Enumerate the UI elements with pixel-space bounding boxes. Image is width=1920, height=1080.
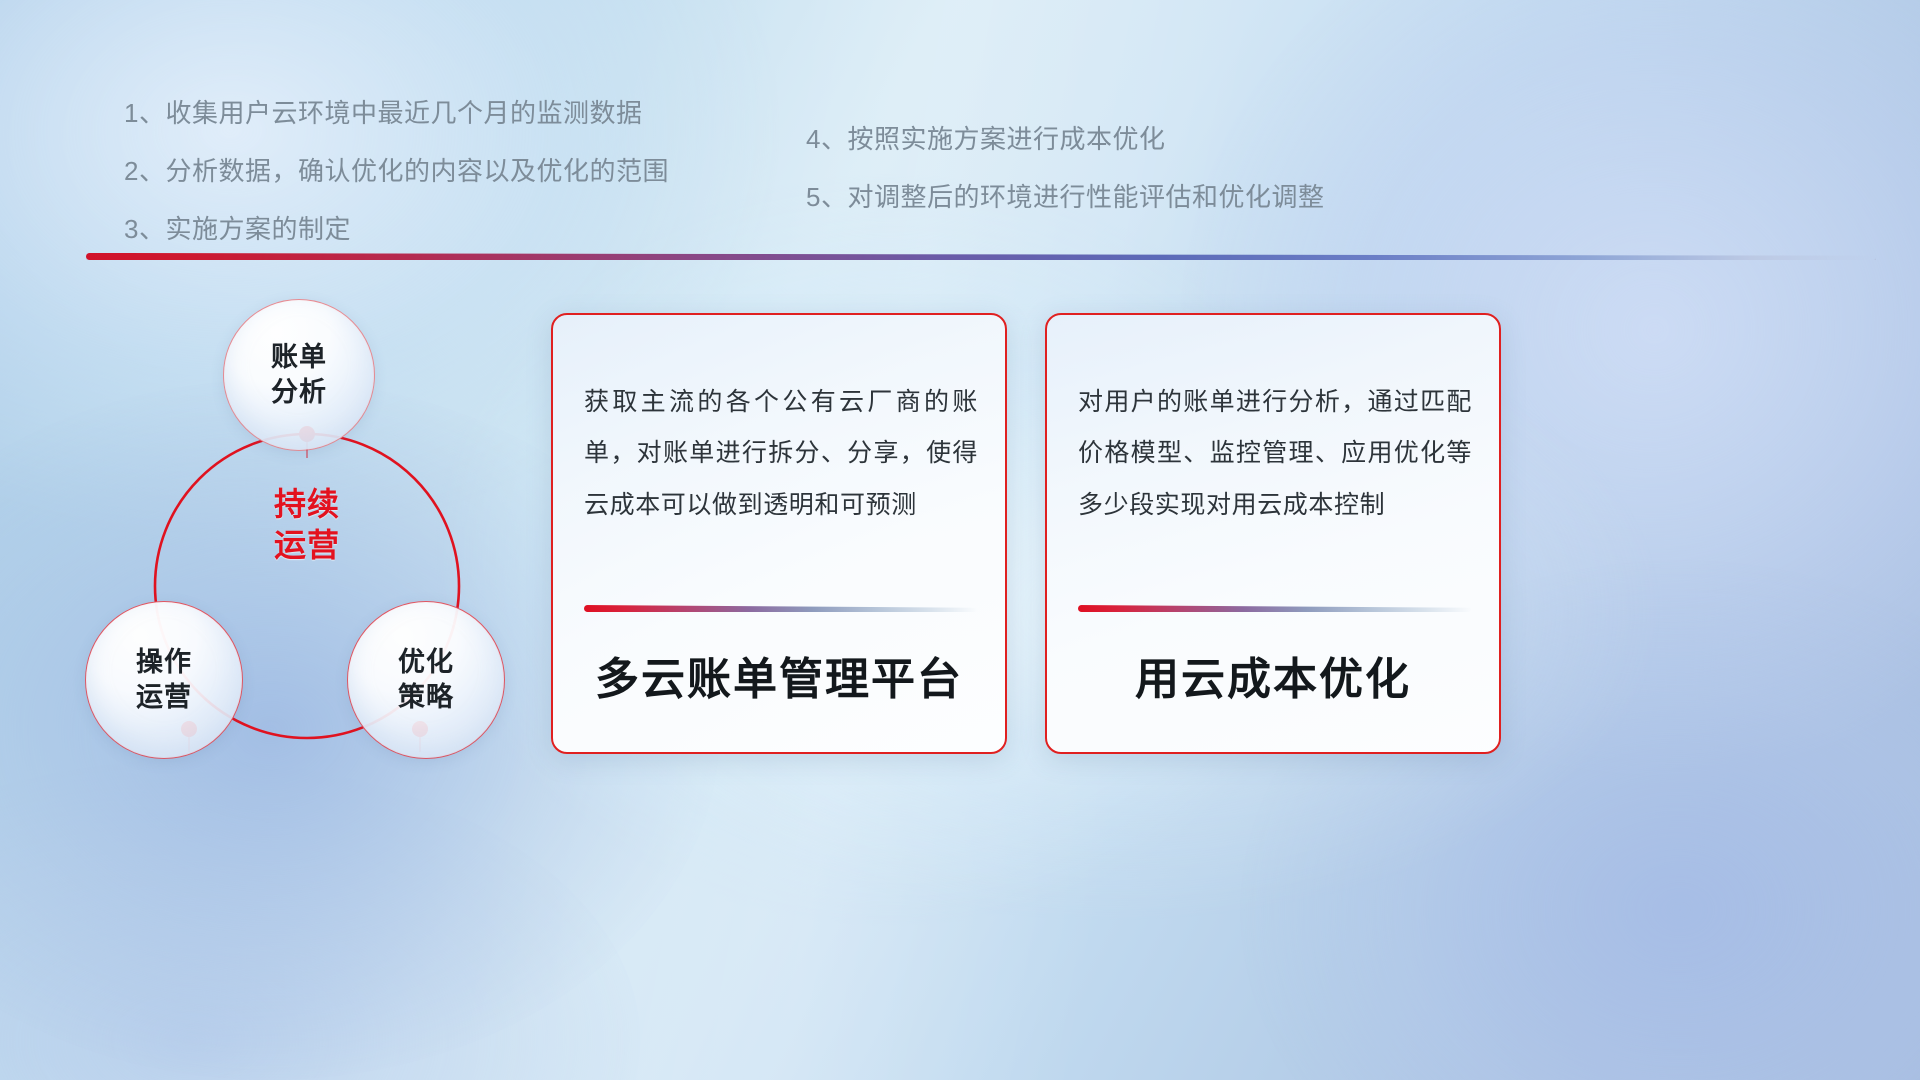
steps-list-right: 4、按照实施方案进行成本优化 5、对调整后的环境进行性能评估和优化调整	[806, 126, 1324, 242]
feature-card-billing-platform[interactable]: 获取主流的各个公有云厂商的账单，对账单进行拆分、分享，使得云成本可以做到透明和可…	[551, 313, 1007, 754]
step-item-1: 1、收集用户云环境中最近几个月的监测数据	[124, 100, 669, 126]
venn-bubble-top-label: 账单 分析	[271, 340, 327, 409]
venn-center-label: 持续 运营	[252, 484, 362, 566]
card-2-body: 对用户的账单进行分析，通过匹配价格模型、监控管理、应用优化等多少段实现对用云成本…	[1078, 377, 1472, 531]
card-2-title: 用云成本优化	[1047, 643, 1499, 707]
venn-bubble-operations[interactable]: 操作 运营	[86, 602, 242, 758]
feature-card-cost-optimization[interactable]: 对用户的账单进行分析，通过匹配价格模型、监控管理、应用优化等多少段实现对用云成本…	[1045, 313, 1501, 754]
step-item-5: 5、对调整后的环境进行性能评估和优化调整	[806, 184, 1324, 210]
card-1-divider	[584, 605, 978, 612]
steps-list-left: 1、收集用户云环境中最近几个月的监测数据 2、分析数据，确认优化的内容以及优化的…	[124, 100, 669, 274]
card-1-body: 获取主流的各个公有云厂商的账单，对账单进行拆分、分享，使得云成本可以做到透明和可…	[584, 377, 978, 531]
step-item-2: 2、分析数据，确认优化的内容以及优化的范围	[124, 158, 669, 184]
venn-bubble-optimization-strategy[interactable]: 优化 策略	[348, 602, 504, 758]
venn-bubble-billing-analysis[interactable]: 账单 分析	[224, 300, 374, 450]
venn-bubble-bottom-left-label: 操作 运营	[136, 645, 192, 714]
venn-bubble-bottom-right-label: 优化 策略	[398, 645, 454, 714]
step-item-3: 3、实施方案的制定	[124, 216, 669, 242]
venn-diagram: 账单 分析 操作 运营 优化 策略 持续 运营	[78, 286, 548, 776]
card-1-title: 多云账单管理平台	[553, 643, 1005, 707]
card-2-divider	[1078, 605, 1472, 612]
step-item-4: 4、按照实施方案进行成本优化	[806, 126, 1324, 152]
